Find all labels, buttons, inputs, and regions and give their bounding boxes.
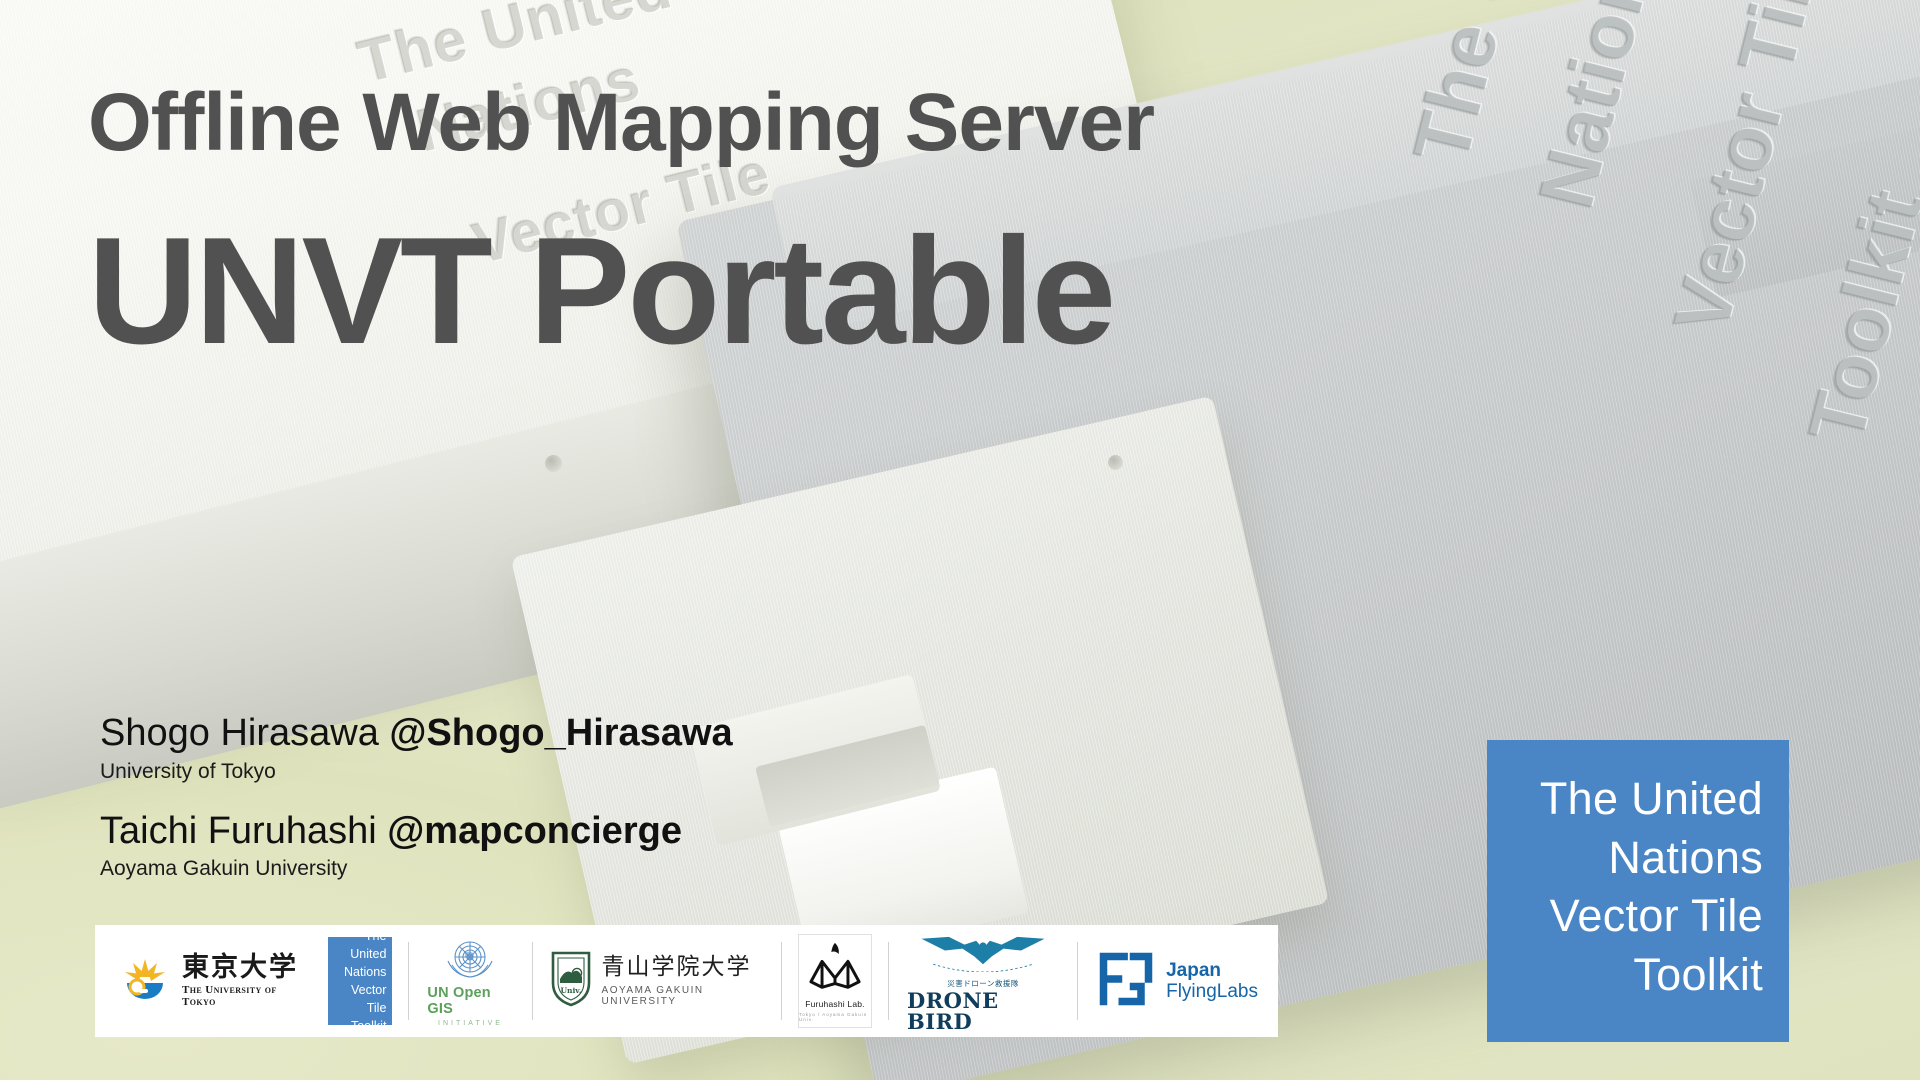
aoyama-japanese-name: 青山学院大学 — [602, 955, 752, 980]
unvt-mini-badge: The United Nations Vector Tile Toolkit — [328, 937, 392, 1025]
case-screw-hole-right — [1108, 455, 1123, 470]
author-1-affiliation: University of Tokyo — [100, 759, 900, 784]
furuhashi-subtitle: Tokyo / Aoyama Gakuin Univ. — [799, 1012, 871, 1022]
furuhashi-folded-map-icon — [807, 941, 863, 996]
drone-bird-icon — [919, 931, 1047, 977]
unvt-badge-line-4: Toolkit — [1507, 946, 1763, 1005]
unvt-mini-line-4: Toolkit — [332, 1017, 386, 1035]
unvt-mini-line-1: The United — [332, 927, 386, 963]
un-emblem-icon — [440, 935, 500, 983]
author-2-handle[interactable]: @mapconcierge — [387, 810, 682, 852]
author-list: Shogo Hirasawa @Shogo_Hirasawa Universit… — [100, 712, 900, 907]
logo-unvt: The United Nations Vector Tile Toolkit — [312, 925, 408, 1037]
title-block: Offline Web Mapping Server UNVT Portable — [88, 82, 1728, 372]
furuhashi-name: Furuhashi Lab. — [805, 999, 865, 1009]
un-open-gis-subtitle: INITIATIVE — [438, 1020, 503, 1027]
utokyo-english-name: The University of Tokyo — [182, 984, 298, 1008]
furuhashi-card: Furuhashi Lab. Tokyo / Aoyama Gakuin Uni… — [798, 934, 872, 1028]
utokyo-ginkgo-icon — [117, 953, 173, 1009]
logo-japan-flying-labs: Japan FlyingLabs — [1078, 925, 1278, 1037]
aoyama-wordmark: 青山学院大学 AOYAMA GAKUIN UNIVERSITY — [602, 955, 765, 1006]
author-2-affiliation: Aoyama Gakuin University — [100, 856, 900, 881]
logo-drone-bird: 災害ドローン救援隊 DRONE BIRD — [889, 925, 1077, 1037]
author-entry-2: Taichi Furuhashi @mapconcierge Aoyama Ga… — [100, 810, 900, 882]
flying-labs-line-2: FlyingLabs — [1166, 981, 1258, 1002]
author-1-name: Shogo Hirasawa — [100, 712, 379, 754]
utokyo-wordmark: 東京大学 The University of Tokyo — [182, 954, 298, 1008]
author-name-line-2: Taichi Furuhashi @mapconcierge — [100, 810, 900, 853]
logo-furuhashi-lab: Furuhashi Lab. Tokyo / Aoyama Gakuin Uni… — [782, 925, 888, 1037]
unvt-mini-line-2: Nations — [332, 963, 386, 981]
slide-subtitle: Offline Web Mapping Server — [88, 82, 1728, 164]
unvt-mini-line-3: Vector Tile — [332, 981, 386, 1017]
flying-labs-bracket-icon — [1096, 949, 1156, 1014]
drone-bird-japanese: 災害ドローン救援隊 — [947, 978, 1019, 989]
author-name-line-1: Shogo Hirasawa @Shogo_Hirasawa — [100, 712, 900, 755]
unvt-badge-line-2: Nations — [1507, 829, 1763, 888]
unvt-badge-line-3: Vector Tile — [1507, 887, 1763, 946]
logo-un-open-gis: UN Open GIS INITIATIVE — [409, 925, 531, 1037]
presentation-slide: The United Nations Vector Tile Toolkit T… — [0, 0, 1920, 1080]
svg-text:Univ.: Univ. — [560, 986, 581, 995]
logo-university-of-tokyo: 東京大学 The University of Tokyo — [95, 925, 312, 1037]
aoyama-english-name: AOYAMA GAKUIN UNIVERSITY — [602, 985, 765, 1007]
slide-title: UNVT Portable — [88, 212, 1728, 372]
utokyo-japanese-name: 東京大学 — [182, 954, 298, 982]
logo-aoyama-gakuin: Univ. 青山学院大学 AOYAMA GAKUIN UNIVERSITY — [533, 925, 781, 1037]
author-1-handle[interactable]: @Shogo_Hirasawa — [389, 712, 732, 754]
unvt-badge: The United Nations Vector Tile Toolkit — [1487, 740, 1789, 1042]
flying-labs-line-1: Japan — [1166, 960, 1258, 981]
drone-bird-name: DRONE BIRD — [907, 990, 1059, 1032]
aoyama-crest-icon: Univ. — [549, 949, 593, 1014]
author-entry-1: Shogo Hirasawa @Shogo_Hirasawa Universit… — [100, 712, 900, 784]
flying-labs-wordmark: Japan FlyingLabs — [1166, 960, 1258, 1003]
case-screw-hole-left — [545, 455, 562, 472]
un-open-gis-title: UN Open GIS — [427, 985, 513, 1017]
author-2-name: Taichi Furuhashi — [100, 810, 377, 852]
unvt-badge-line-1: The United — [1507, 770, 1763, 829]
logo-bar: 東京大学 The University of Tokyo The United … — [95, 925, 1278, 1037]
